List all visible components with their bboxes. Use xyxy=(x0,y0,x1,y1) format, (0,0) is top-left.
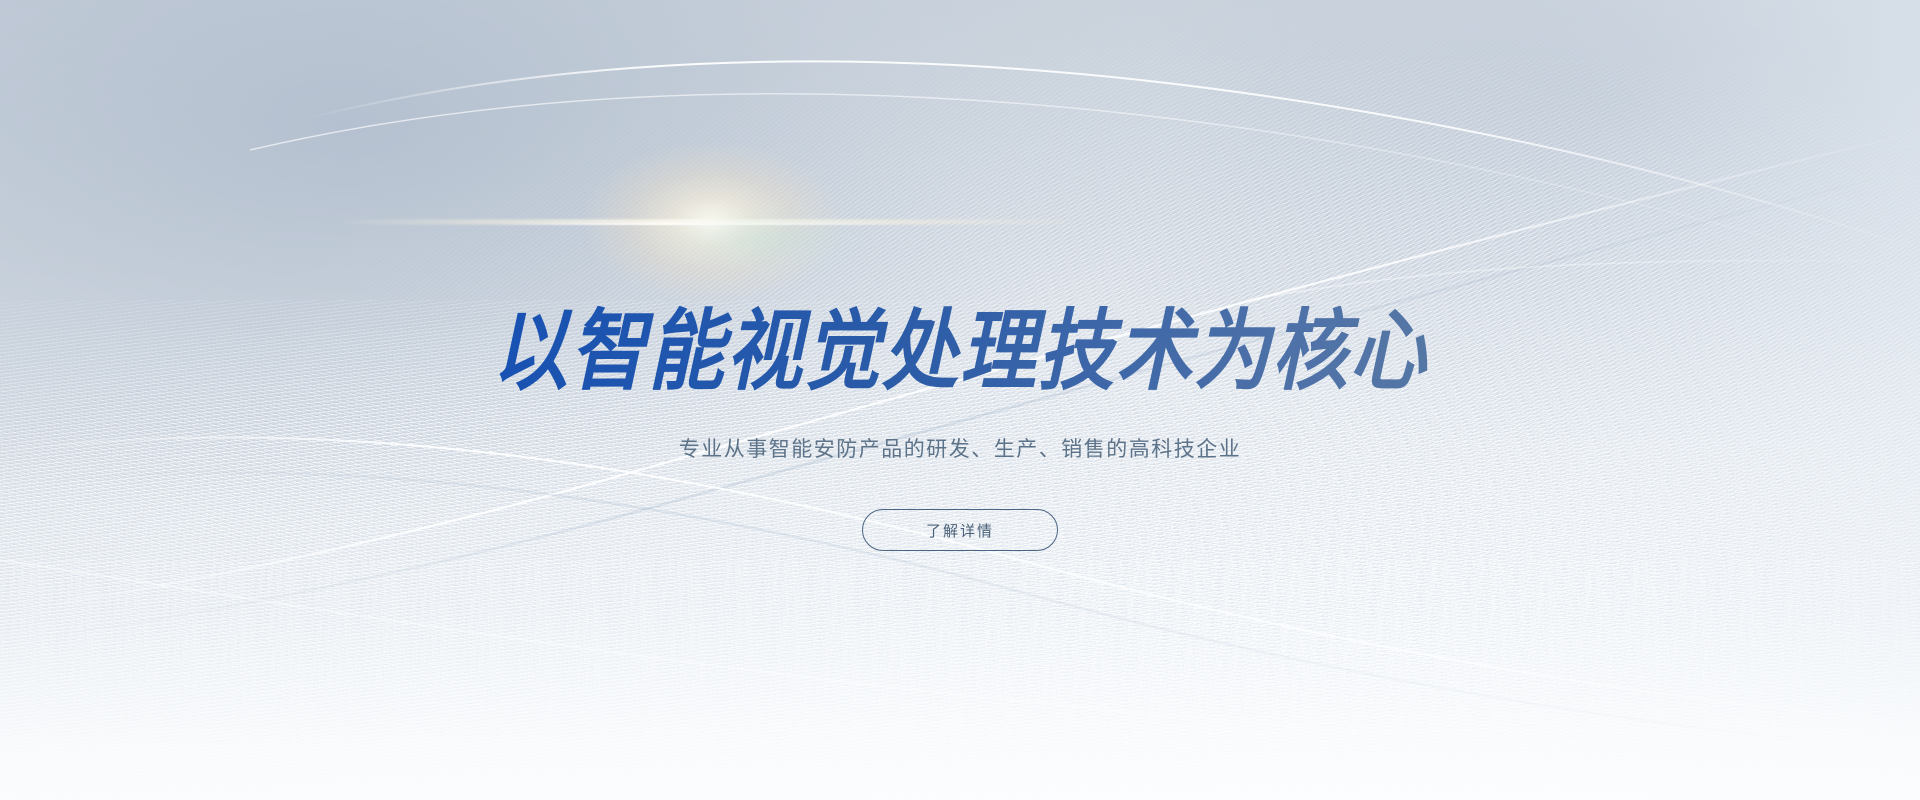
learn-more-button[interactable]: 了解详情 xyxy=(862,509,1058,551)
hero-content: 以智能视觉处理技术为核心 专业从事智能安防产品的研发、生产、销售的高科技企业 了… xyxy=(0,0,1920,800)
hero-headline: 以智能视觉处理技术为核心 xyxy=(0,306,1920,399)
hero-banner: 以智能视觉处理技术为核心 专业从事智能安防产品的研发、生产、销售的高科技企业 了… xyxy=(0,0,1920,800)
hero-cta-container: 了解详情 xyxy=(0,509,1920,551)
hero-subtitle: 专业从事智能安防产品的研发、生产、销售的高科技企业 xyxy=(0,433,1920,463)
